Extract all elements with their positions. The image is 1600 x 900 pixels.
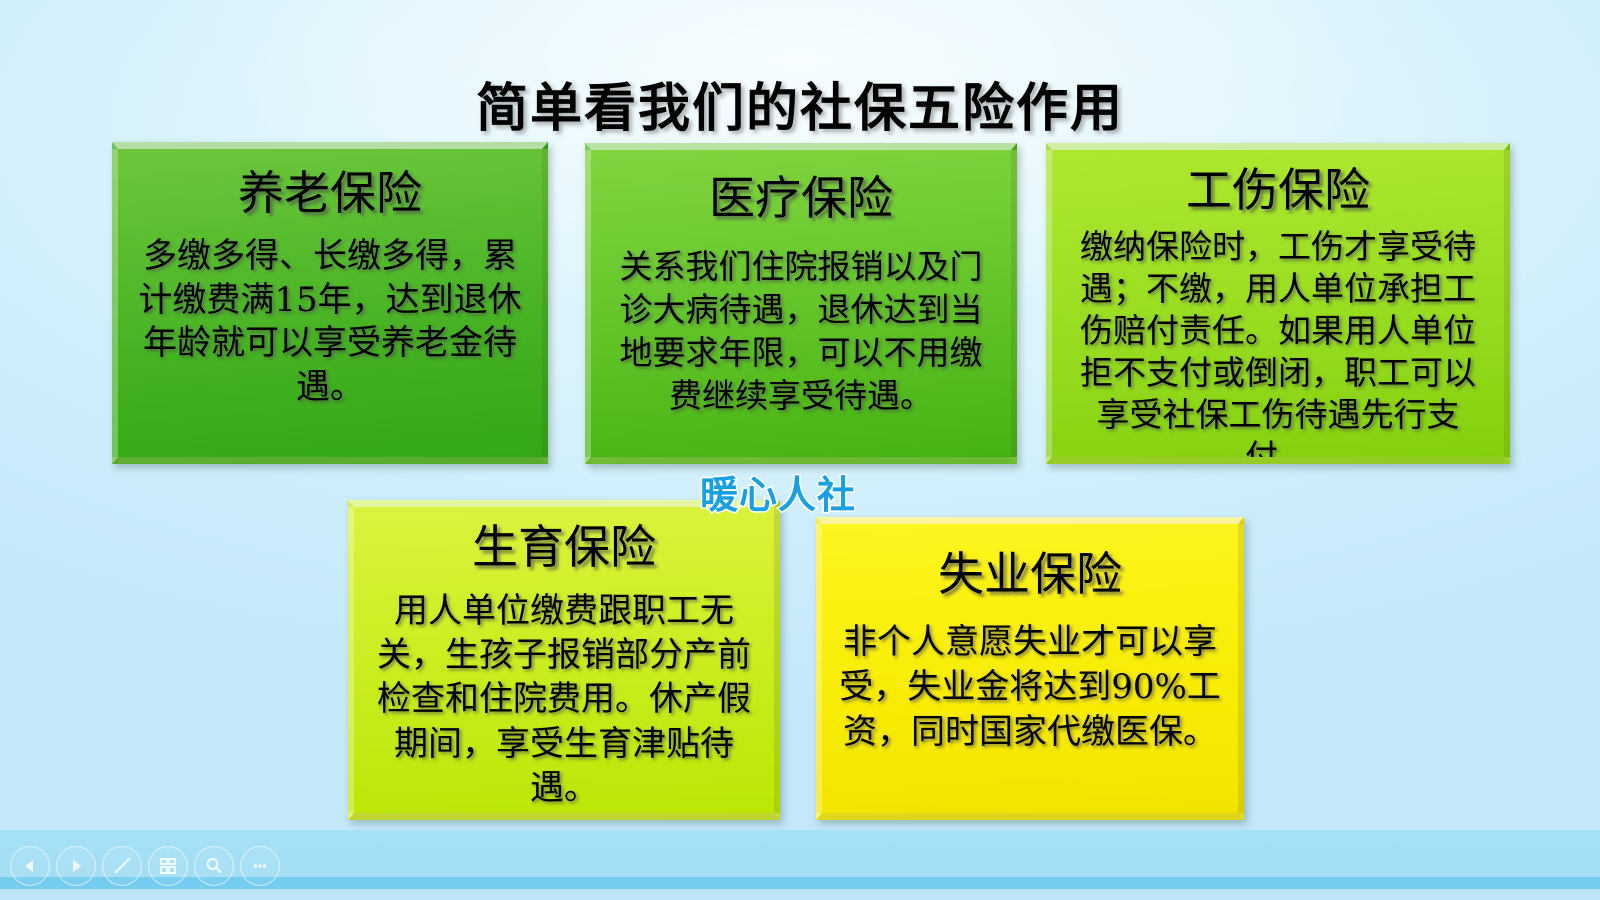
watermark-label: 暖心人社: [700, 464, 856, 519]
insurance-card-medical[interactable]: 医疗保险 关系我们住院报销以及门诊大病待遇，退休达到当地要求年限，可以不用缴费继…: [585, 143, 1017, 464]
card-body: 用人单位缴费跟职工无关，生孩子报销部分产前检查和住院费用。休产假期间，享受生育津…: [368, 589, 760, 810]
more-options-button[interactable]: [240, 846, 280, 886]
card-body: 多缴多得、长缴多得，累计缴费满15年，达到退休年龄就可以享受养老金待遇。: [132, 235, 528, 409]
card-body: 缴纳保险时，工伤才享受待遇；不缴，用人单位承担工伤赔付责任。如果用人单位拒不支付…: [1066, 226, 1490, 464]
play-slide-button[interactable]: [56, 846, 96, 886]
magnifier-icon: [203, 855, 225, 877]
insurance-card-maternity[interactable]: 生育保险 用人单位缴费跟职工无关，生孩子报销部分产前检查和住院费用。休产假期间，…: [348, 500, 780, 820]
insurance-card-pension[interactable]: 养老保险 多缴多得、长缴多得，累计缴费满15年，达到退休年龄就可以享受养老金待遇…: [112, 142, 548, 464]
presentation-slide: 简单看我们的社保五险作用 养老保险 多缴多得、长缴多得，累计缴费满15年，达到退…: [0, 0, 1600, 900]
layout-icon: [157, 855, 179, 877]
pen-icon: [111, 855, 133, 877]
card-title: 生育保险: [368, 519, 760, 575]
zoom-button[interactable]: [194, 846, 234, 886]
insurance-card-unemployment[interactable]: 失业保险 非个人意愿失业才可以享受，失业金将达到90%工资，同时国家代缴医保。: [816, 517, 1244, 820]
card-title: 医疗保险: [605, 170, 997, 226]
card-title: 失业保险: [836, 546, 1224, 602]
slide-toolbar: [10, 846, 280, 886]
ellipsis-icon: [249, 855, 271, 877]
card-body: 关系我们住院报销以及门诊大病待遇，退休达到当地要求年限，可以不用缴费继续享受待遇…: [605, 246, 997, 418]
pen-tool-button[interactable]: [102, 846, 142, 886]
card-title: 工伤保险: [1066, 162, 1490, 218]
previous-slide-button[interactable]: [10, 846, 50, 886]
card-body: 非个人意愿失业才可以享受，失业金将达到90%工资，同时国家代缴医保。: [836, 620, 1224, 755]
slide-title: 简单看我们的社保五险作用: [0, 66, 1600, 141]
card-title: 养老保险: [132, 165, 528, 221]
bottom-band-pale: [0, 889, 1600, 900]
triangle-right-icon: [66, 856, 86, 876]
slide-layout-button[interactable]: [148, 846, 188, 886]
insurance-card-work-injury[interactable]: 工伤保险 缴纳保险时，工伤才享受待遇；不缴，用人单位承担工伤赔付责任。如果用人单…: [1046, 143, 1510, 464]
triangle-left-icon: [20, 856, 40, 876]
